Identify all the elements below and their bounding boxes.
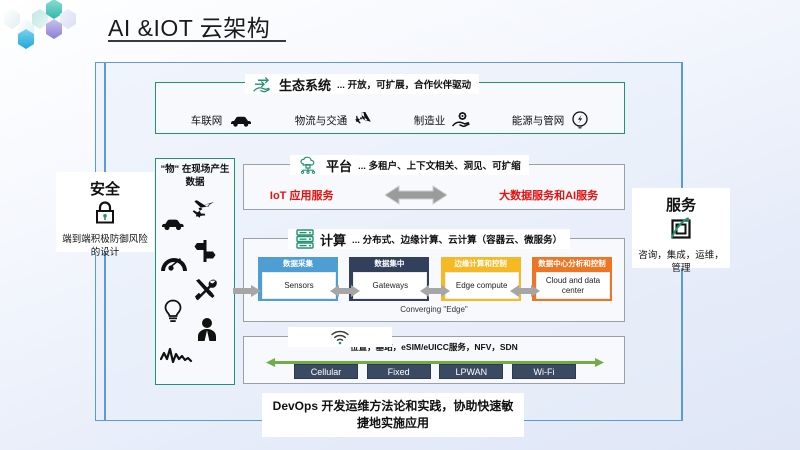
compute-box-header: 数据集中 [349,257,429,270]
car-icon [229,114,253,127]
ecosystem-item-label: 制造业 [414,113,446,128]
compute-box-body: Sensors [262,272,336,299]
platform-right-label: 大数据服务和AI服务 [499,187,598,203]
services-body: 咨询，集成，运维，管理 [632,249,730,275]
things-icon-list [160,195,232,381]
ecosystem-item-2[interactable]: 制造业 [414,112,471,128]
cloud-network-icon [298,156,320,174]
connectivity-header [288,327,392,347]
lightbulb-circle-icon [571,111,589,129]
compute-box-body: Cloud and data center [536,272,610,299]
services-card: 服务 咨询，集成，运维，管理 [632,188,730,268]
arrow-bidirectional-icon [420,284,450,302]
compute-header: 计算 ... 分布式、边缘计算、云计算（容器云、微服务） [288,229,570,249]
compute-box-cloud[interactable]: 数据中心分析和控制 Cloud and data center [532,257,612,301]
security-connector-top [104,62,106,172]
slide-header: AI &IOT 云架构 [0,0,800,56]
ecosystem-item-1[interactable]: 物流与交通 [295,112,373,128]
hand-gear-icon [452,112,470,128]
airplane-icon [354,112,372,128]
airplane-icon [190,195,218,226]
compute-subtitle: ... 分布式、边缘计算、云计算（容器云、微服务） [352,232,562,246]
ecosystem-item-label: 物流与交通 [295,113,348,128]
gauge-icon [160,253,188,278]
platform-header: 平台 ... 多租户、上下文相关、洞见、可扩缩 [290,155,529,175]
security-connector-bottom [104,252,106,421]
lightbulb-icon [162,299,184,328]
compute-panel: 数据采集 Sensors 数据集中 Gateways 边缘计算和控制 Edge … [243,238,625,322]
compute-box-body: Gateways [353,272,427,299]
arrow-bidirectional-icon [510,284,540,302]
ecosystem-subtitle: ... 开放，可扩展，合作伙伴驱动 [337,77,471,91]
connectivity-chip-wifi[interactable]: Wi-Fi [512,364,576,379]
wifi-icon [330,329,350,345]
connectivity-arrow-icon [266,354,604,363]
person-icon [196,317,218,346]
things-title: "物" 在现场产生数据 [156,163,234,189]
arrow-bidirectional-icon [330,284,360,302]
security-card: 安全 端到端积极防御风险的设计 [56,172,154,252]
heartbeat-icon [160,347,194,370]
connectivity-chip-lpwan[interactable]: LPWAN [439,364,503,379]
connectivity-chips: Cellular Fixed LPWAN Wi-Fi [294,364,576,379]
compute-title: 计算 [320,230,346,249]
ecosystem-item-3[interactable]: 能源与管网 [512,111,590,129]
chart-growth-icon [669,216,693,245]
ecosystem-header: 生态系统 ... 开放，可扩展，合作伙伴驱动 [245,74,479,94]
services-connector-top [681,62,683,188]
platform-title: 平台 [326,156,352,175]
page-title: AI &IOT 云架构 [108,9,270,43]
things-panel: "物" 在现场产生数据 [155,158,235,385]
server-rack-icon [296,229,314,249]
tools-icon [193,277,219,308]
compute-footer: Converging "Edge" [244,305,624,314]
hand-recycle-icon [253,76,273,93]
car-icon [160,217,186,236]
services-connector-bottom [681,268,683,421]
compute-box-gateways[interactable]: 数据集中 Gateways [349,257,429,301]
signpost-icon [193,239,217,268]
compute-box-body: Edge compute [445,272,519,299]
arrow-left-in-icon [233,284,261,302]
compute-box-sensors[interactable]: 数据采集 Sensors [258,257,338,301]
padlock-icon [93,200,117,229]
platform-row: IoT 应用服务 大数据服务和AI服务 [244,179,624,211]
title-underline [108,40,286,42]
ecosystem-items: 车联网 物流与交通 制造业 能源与管网 [156,105,624,135]
compute-box-header: 数据采集 [258,257,338,270]
ecosystem-title: 生态系统 [279,75,331,94]
connectivity-chip-fixed[interactable]: Fixed [367,364,431,379]
connectivity-chip-cellular[interactable]: Cellular [294,364,358,379]
compute-box-header: 边缘计算和控制 [441,257,521,270]
ecosystem-item-label: 能源与管网 [512,113,565,128]
devops-card: DevOps 开发运维方法论和实践，协助快速敏捷地实施应用 [262,393,524,437]
services-title: 服务 [666,194,696,215]
double-arrow-icon [385,185,447,205]
security-body: 端到端积极防御风险的设计 [56,233,154,259]
platform-left-label: IoT 应用服务 [270,187,334,203]
hexagon-cluster-logo [2,0,102,56]
platform-subtitle: ... 多租户、上下文相关、洞见、可扩缩 [358,158,521,172]
security-title: 安全 [90,178,120,199]
compute-box-header: 数据中心分析和控制 [532,257,612,270]
ecosystem-item-0[interactable]: 车联网 [191,113,254,128]
ecosystem-item-label: 车联网 [191,113,223,128]
compute-box-edge[interactable]: 边缘计算和控制 Edge compute [441,257,521,301]
